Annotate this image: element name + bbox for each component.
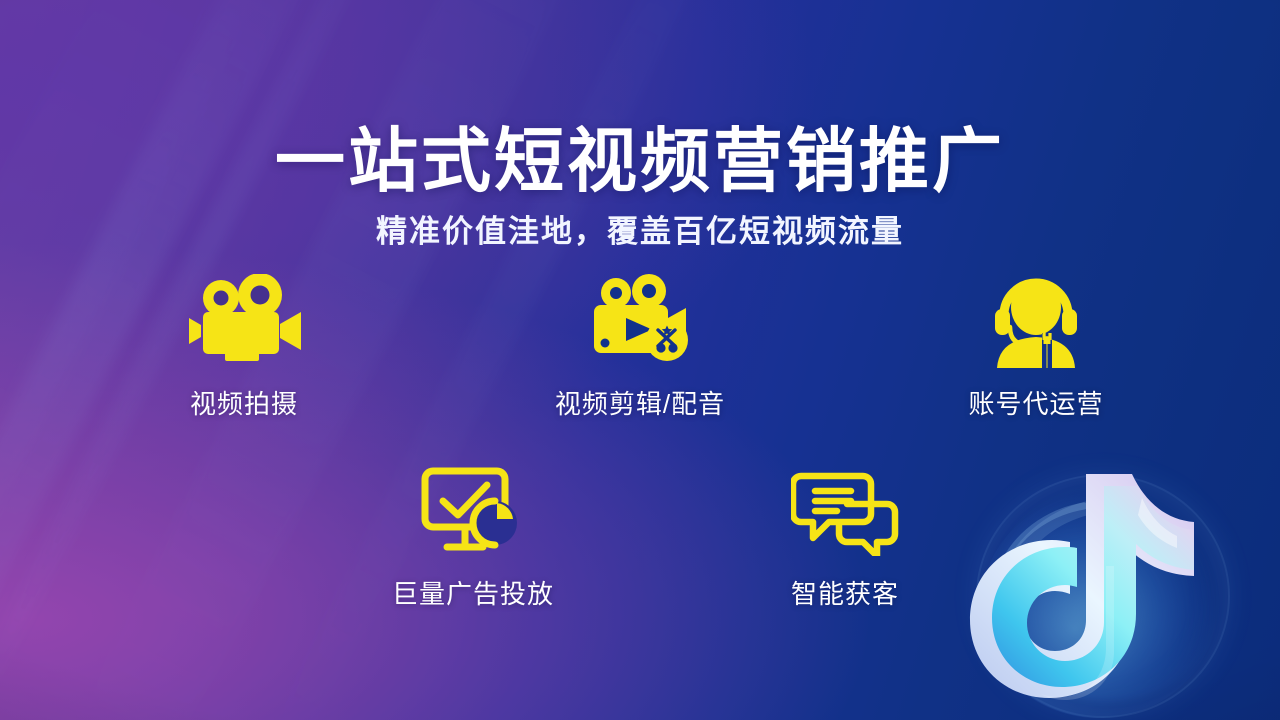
feature-label: 视频剪辑/配音 <box>555 384 725 421</box>
feature-video-editing-dubbing[interactable]: 视频剪辑/配音 <box>534 272 746 421</box>
video-edit-scissors-icon <box>582 272 698 368</box>
movie-camera-icon <box>185 272 303 368</box>
feature-label: 巨量广告投放 <box>392 574 554 611</box>
feature-label: 视频拍摄 <box>190 384 298 421</box>
feature-video-shooting[interactable]: 视频拍摄 <box>138 272 350 421</box>
chat-bubbles-icon <box>791 462 899 558</box>
feature-label: 智能获客 <box>791 574 899 611</box>
page-title: 一站式短视频营销推广 <box>0 125 1280 199</box>
feature-row-primary: 视频拍摄 <box>0 272 1280 421</box>
feature-account-operation[interactable]: 账号代运营 <box>930 272 1142 421</box>
page-subtitle: 精准价值洼地，覆盖百亿短视频流量 <box>0 206 1280 251</box>
feature-label: 账号代运营 <box>968 384 1103 421</box>
monitor-check-chart-icon <box>417 462 529 558</box>
promo-poster: 一站式短视频营销推广 精准价值洼地，覆盖百亿短视频流量 <box>0 0 1280 720</box>
feature-ad-placement[interactable]: 巨量广告投放 <box>367 462 579 611</box>
feature-smart-customer-acquisition[interactable]: 智能获客 <box>739 462 951 611</box>
headset-support-wrench-icon <box>980 272 1092 368</box>
feature-row-secondary: 巨量广告投放 智能获客 <box>0 462 1280 611</box>
